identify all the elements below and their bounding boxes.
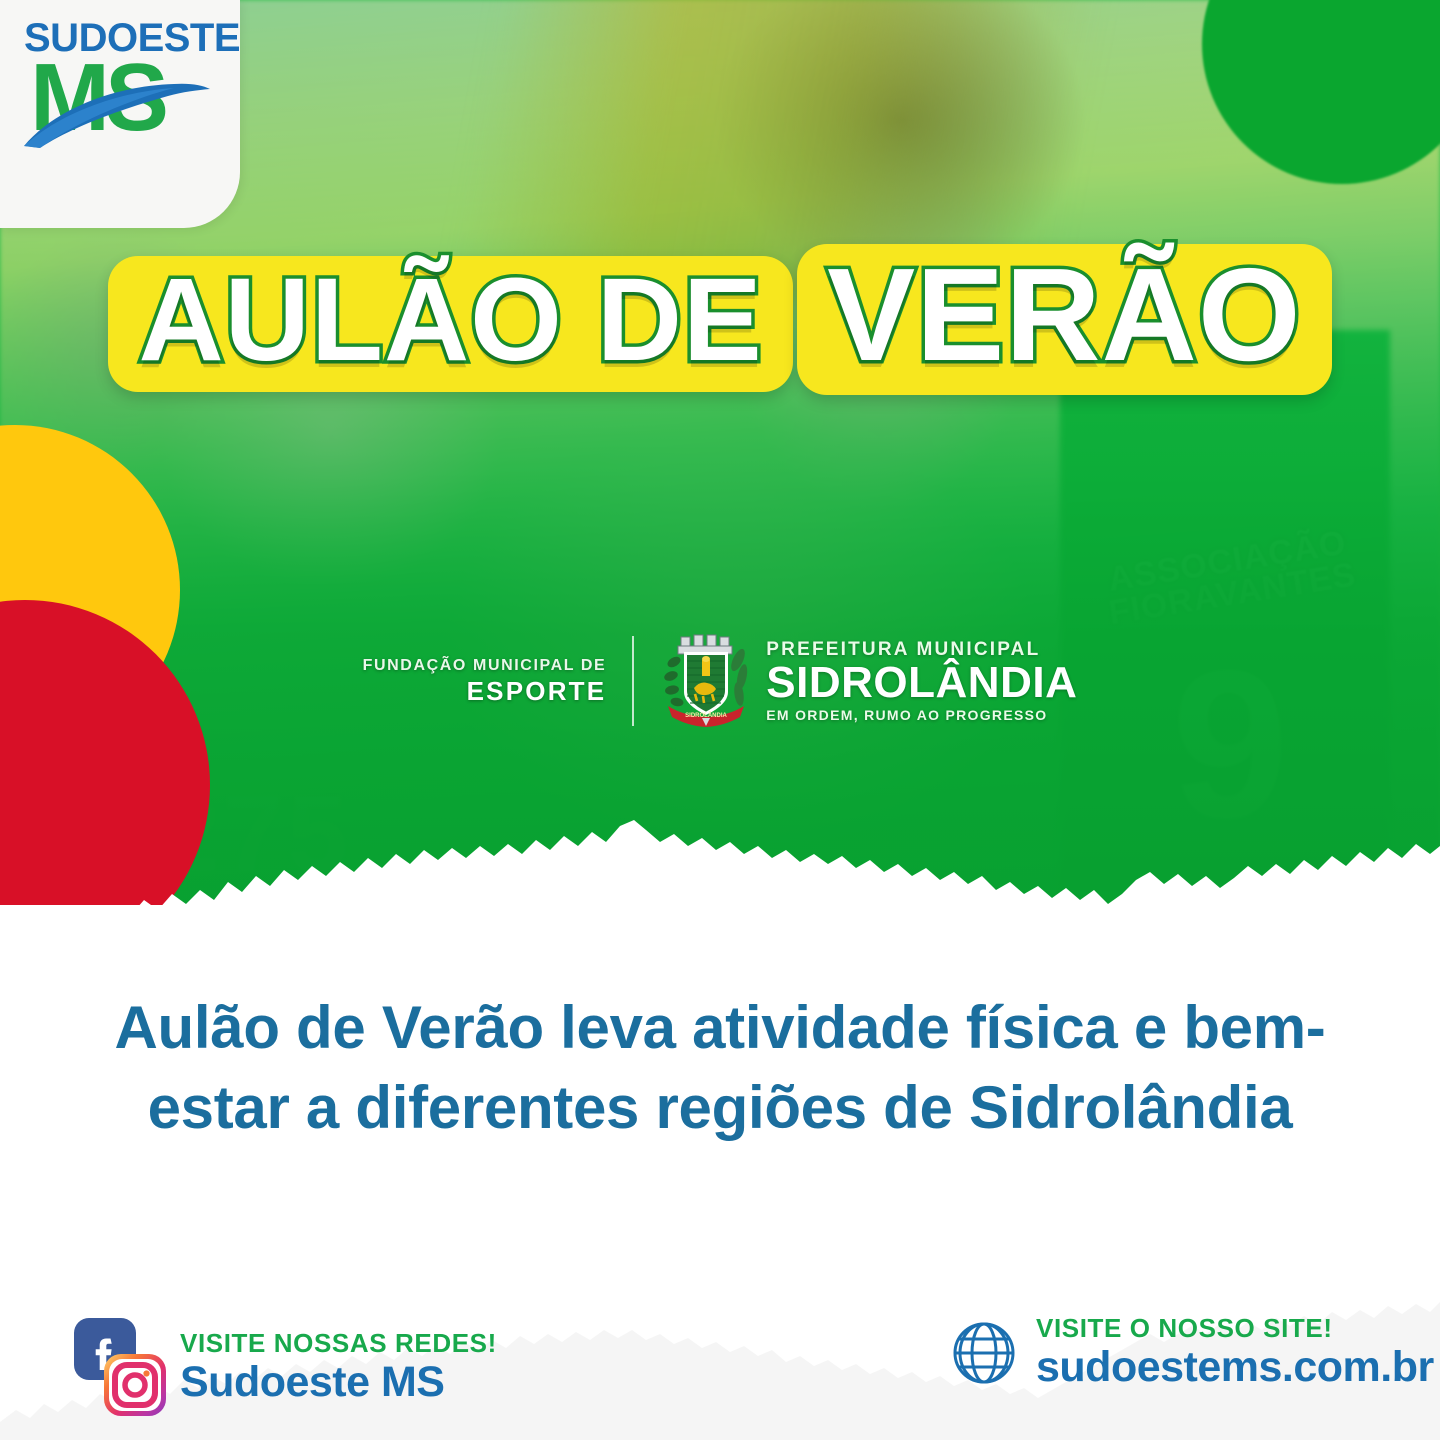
foundation-line-1: FUNDAÇÃO MUNICIPAL DE [363, 655, 607, 677]
torn-paper-edge-top [0, 820, 1440, 950]
globe-icon [950, 1319, 1018, 1387]
article-block: ESPORTE Aulão de Verão leva atividade fí… [0, 918, 1440, 1148]
city-hall-line-3: EM ORDEM, RUMO AO PROGRESSO [766, 706, 1077, 724]
brand-logo-card[interactable]: SUDOESTE MS [0, 0, 240, 228]
logo-divider [632, 636, 634, 726]
title-line-1-text: AULÃO DE [138, 260, 762, 380]
institutional-logo-band: FUNDAÇÃO MUNICIPAL DE ESPORTE [0, 628, 1440, 734]
city-hall-logo: PREFEITURA MUNICIPAL SIDROLÂNDIA EM ORDE… [766, 638, 1077, 725]
social-label: VISITE NOSSAS REDES! [180, 1329, 497, 1358]
sidrolandia-coat-of-arms-icon: SIDROLÂNDIA [660, 632, 752, 730]
foundation-logo: FUNDAÇÃO MUNICIPAL DE ESPORTE [363, 655, 633, 708]
social-icons[interactable] [62, 1314, 172, 1422]
title-line-2-text: VERÃO [827, 248, 1301, 383]
website-text: VISITE O NOSSO SITE! sudoestems.com.br [1036, 1314, 1434, 1392]
social-media-poster: ASSOCIAÇÃO FIORAVANTES 9 2275 SUDOESTE M… [0, 0, 1440, 1440]
social-text: VISITE NOSSAS REDES! Sudoeste MS [180, 1329, 497, 1407]
article-headline: Aulão de Verão leva atividade física e b… [0, 988, 1440, 1148]
sudoeste-ms-logo-icon: SUDOESTE MS [24, 18, 210, 168]
social-links-group[interactable]: VISITE NOSSAS REDES! Sudoeste MS [62, 1314, 497, 1422]
website-url[interactable]: sudoestems.com.br [1036, 1343, 1434, 1392]
website-label: VISITE O NOSSO SITE! [1036, 1314, 1434, 1343]
poster-title: AULÃO DE VERÃO [0, 238, 1440, 395]
title-line-2-sticker: VERÃO [797, 244, 1331, 395]
social-handle[interactable]: Sudoeste MS [180, 1358, 497, 1407]
svg-text:SIDROLÂNDIA: SIDROLÂNDIA [685, 712, 727, 719]
website-link-group[interactable]: VISITE O NOSSO SITE! sudoestems.com.br [950, 1314, 1434, 1392]
swoosh-icon [22, 72, 212, 150]
city-hall-line-2: SIDROLÂNDIA [766, 661, 1077, 706]
title-line-1-sticker: AULÃO DE [108, 256, 792, 392]
foundation-line-2: ESPORTE [363, 676, 607, 707]
poster-footer: VISITE NOSSAS REDES! Sudoeste MS VISITE … [0, 1300, 1440, 1440]
instagram-icon[interactable] [104, 1354, 166, 1416]
